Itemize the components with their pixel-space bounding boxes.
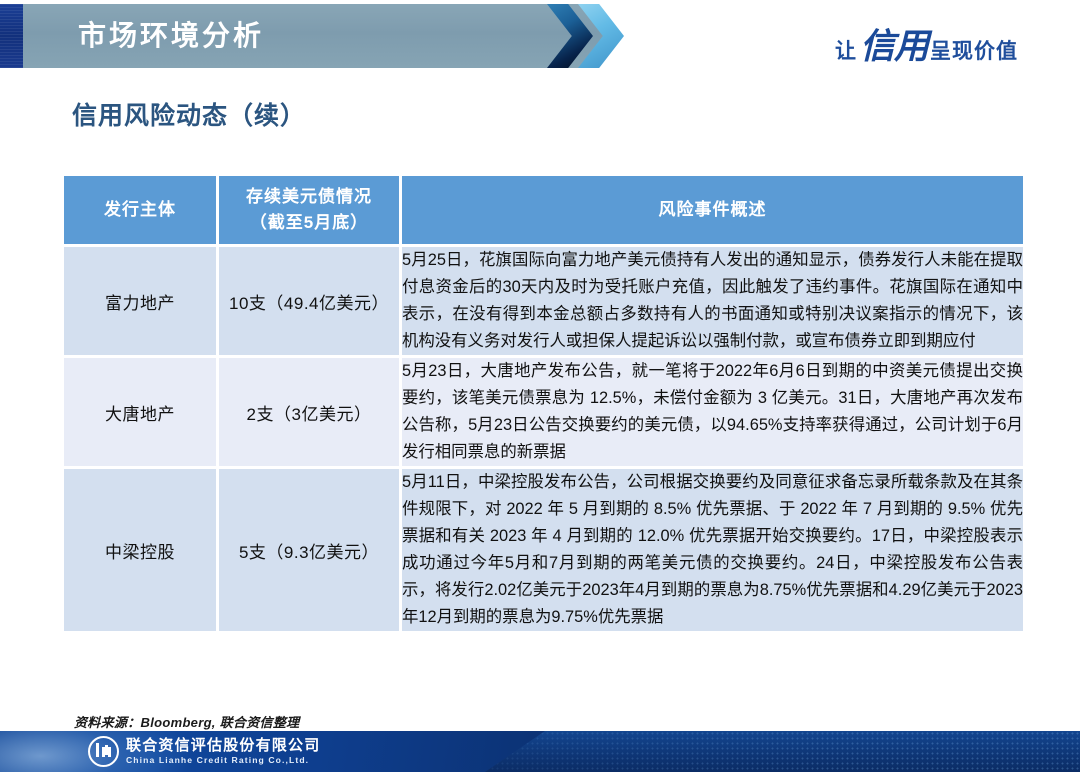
table-row: 中梁控股 5支（9.3亿美元） 5月11日，中梁控股发布公告，公司根据交换要约及… xyxy=(64,469,1023,634)
cell-outstanding-bonds: 5支（9.3亿美元） xyxy=(219,469,402,634)
column-header-outstanding-bonds: 存续美元债情况 （截至5月底） xyxy=(219,176,402,247)
table-row: 富力地产 10支（49.4亿美元） 5月25日，花旗国际向富力地产美元债持有人发… xyxy=(64,247,1023,358)
cell-risk-event: 5月23日，大唐地产发布公告，就一笔将于2022年6月6日到期的中资美元债提出交… xyxy=(402,358,1023,469)
company-name-en: China Lianhe Credit Rating Co.,Ltd. xyxy=(126,756,320,765)
cell-risk-event: 5月25日，花旗国际向富力地产美元债持有人发出的通知显示，债券发行人未能在提取付… xyxy=(402,247,1023,358)
cell-outstanding-bonds: 2支（3亿美元） xyxy=(219,358,402,469)
cell-risk-event: 5月11日，中梁控股发布公告，公司根据交换要约及同意征求备忘录所载条款及在其条件… xyxy=(402,469,1023,634)
slogan-suffix: 呈现价值 xyxy=(930,35,1018,65)
source-note: 资料来源：Bloomberg, 联合资信整理 xyxy=(74,712,299,731)
slogan-calligraphy-text: 信用 xyxy=(860,18,928,69)
page-title: 信用风险动态（续） xyxy=(72,96,306,132)
risk-events-table: 发行主体 存续美元债情况 （截至5月底） 风险事件概述 富力地产 10支（49.… xyxy=(64,176,1023,634)
cell-issuer: 大唐地产 xyxy=(64,358,219,469)
column-header-issuer: 发行主体 xyxy=(64,176,219,247)
table-row: 大唐地产 2支（3亿美元） 5月23日，大唐地产发布公告，就一笔将于2022年6… xyxy=(64,358,1023,469)
column-header-outstanding-bonds-line2: （截至5月底） xyxy=(219,210,399,236)
company-name-cn: 联合资信评估股份有限公司 xyxy=(126,738,320,754)
brand-slogan: 让 信用 呈现价值 xyxy=(835,18,1018,69)
page-footer: 联合资信评估股份有限公司 China Lianhe Credit Rating … xyxy=(0,731,1080,772)
slogan-prefix: 让 xyxy=(835,35,857,65)
section-title: 市场环境分析 xyxy=(78,14,264,58)
table-header-row: 发行主体 存续美元债情况 （截至5月底） 风险事件概述 xyxy=(64,176,1023,247)
header-navy-accent-block xyxy=(0,4,23,68)
column-header-risk-events: 风险事件概述 xyxy=(402,176,1023,247)
cell-issuer: 富力地产 xyxy=(64,247,219,358)
table-header: 发行主体 存续美元债情况 （截至5月底） 风险事件概述 xyxy=(64,176,1023,247)
column-header-outstanding-bonds-line1: 存续美元债情况 xyxy=(219,184,399,210)
company-logo: 联合资信评估股份有限公司 China Lianhe Credit Rating … xyxy=(88,736,320,767)
cell-outstanding-bonds: 10支（49.4亿美元） xyxy=(219,247,402,358)
company-name-block: 联合资信评估股份有限公司 China Lianhe Credit Rating … xyxy=(126,738,320,765)
page-header: 市场环境分析 让 信用 呈现价值 xyxy=(0,0,1080,73)
risk-events-table-container: 发行主体 存续美元债情况 （截至5月底） 风险事件概述 富力地产 10支（49.… xyxy=(64,176,1017,634)
cell-issuer: 中梁控股 xyxy=(64,469,219,634)
table-body: 富力地产 10支（49.4亿美元） 5月25日，花旗国际向富力地产美元债持有人发… xyxy=(64,247,1023,634)
lianhe-logo-icon xyxy=(88,736,119,767)
